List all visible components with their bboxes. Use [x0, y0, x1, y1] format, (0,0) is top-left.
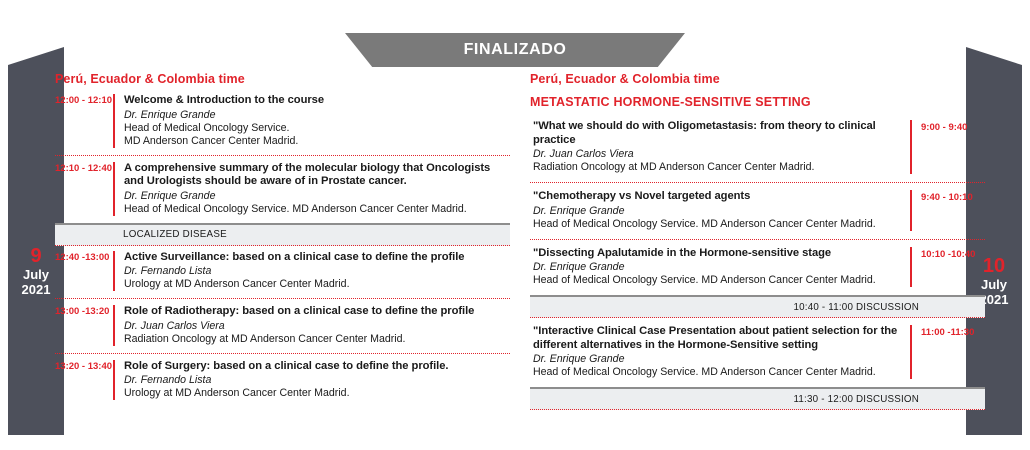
agenda-column-day-10: Perú, Ecuador & Colombia time METASTATIC…	[530, 72, 985, 410]
session-affiliation: Radiation Oncology at MD Anderson Cancer…	[124, 333, 510, 346]
session-speaker: Dr. Fernando Lista	[124, 374, 510, 387]
session-affiliation: Head of Medical Oncology Service.	[124, 122, 510, 135]
discussion-band-label: 11:30 - 12:00 DISCUSSION	[793, 394, 919, 405]
session-affiliation: Head of Medical Oncology Service. MD And…	[533, 274, 902, 287]
session-title: Active Surveillance: based on a clinical…	[124, 251, 510, 265]
discussion-band: 10:40 - 11:00 DISCUSSION	[530, 295, 985, 318]
session-affiliation: Urology at MD Anderson Cancer Center Mad…	[124, 278, 510, 291]
session-body: "Chemotherapy vs Novel targeted agentsDr…	[530, 190, 910, 231]
agenda-session-row[interactable]: "Dissecting Apalutamide in the Hormone-s…	[530, 239, 985, 296]
session-time: 13:00 -13:20	[55, 305, 113, 346]
section-heading-metastatic: METASTATIC HORMONE-SENSITIVE SETTING	[530, 95, 985, 113]
timezone-heading-left: Perú, Ecuador & Colombia time	[55, 72, 510, 89]
session-affiliation: Radiation Oncology at MD Anderson Cancer…	[533, 161, 902, 174]
session-title: A comprehensive summary of the molecular…	[124, 162, 510, 189]
session-body: Active Surveillance: based on a clinical…	[113, 251, 510, 292]
session-time: 12:00 - 12:10	[55, 94, 113, 148]
session-body: Welcome & Introduction to the courseDr. …	[113, 94, 510, 148]
agenda-session-row[interactable]: 12:00 - 12:10Welcome & Introduction to t…	[55, 89, 510, 155]
session-speaker: Dr. Juan Carlos Viera	[533, 148, 902, 161]
session-title: Role of Surgery: based on a clinical cas…	[124, 360, 510, 374]
session-time: 9:00 - 9:40	[910, 120, 985, 174]
session-affiliation: Head of Medical Oncology Service. MD And…	[533, 366, 902, 379]
discussion-band-label: 10:40 - 11:00 DISCUSSION	[793, 302, 919, 313]
agenda-session-row[interactable]: 12:10 - 12:40A comprehensive summary of …	[55, 155, 510, 223]
agenda-session-row[interactable]: "Chemotherapy vs Novel targeted agentsDr…	[530, 182, 985, 239]
day-tab-left-month: July	[23, 267, 49, 282]
session-speaker: Dr. Enrique Grande	[124, 190, 510, 203]
session-title: "What we should do with Oligometastasis:…	[533, 120, 902, 147]
session-body: "What we should do with Oligometastasis:…	[530, 120, 910, 174]
session-time: 12:10 - 12:40	[55, 162, 113, 216]
agenda-rows-right: "What we should do with Oligometastasis:…	[530, 113, 985, 410]
agenda-session-row[interactable]: 13:00 -13:20Role of Radiotherapy: based …	[55, 298, 510, 353]
session-speaker: Dr. Fernando Lista	[124, 265, 510, 278]
session-affiliation: MD Anderson Cancer Center Madrid.	[124, 135, 510, 148]
section-band: LOCALIZED DISEASE	[55, 223, 510, 246]
status-banner-finalizado: FINALIZADO	[345, 33, 685, 67]
section-band-label: LOCALIZED DISEASE	[123, 229, 227, 240]
session-speaker: Dr. Enrique Grande	[533, 205, 902, 218]
agenda-stage: FINALIZADO 9 July 2021 10 July 2021 Perú…	[0, 0, 1030, 450]
session-time: 10:10 -10:40	[910, 247, 985, 288]
session-body: "Dissecting Apalutamide in the Hormone-s…	[530, 247, 910, 288]
status-banner-label: FINALIZADO	[464, 41, 567, 59]
session-body: A comprehensive summary of the molecular…	[113, 162, 510, 216]
session-affiliation: Head of Medical Oncology Service. MD And…	[533, 218, 902, 231]
session-title: "Interactive Clinical Case Presentation …	[533, 325, 902, 352]
session-title: Role of Radiotherapy: based on a clinica…	[124, 305, 510, 319]
session-speaker: Dr. Enrique Grande	[533, 261, 902, 274]
session-body: Role of Surgery: based on a clinical cas…	[113, 360, 510, 401]
agenda-session-row[interactable]: "What we should do with Oligometastasis:…	[530, 113, 985, 182]
timezone-heading-right: Perú, Ecuador & Colombia time	[530, 72, 985, 89]
session-speaker: Dr. Juan Carlos Viera	[124, 320, 510, 333]
agenda-column-day-9: Perú, Ecuador & Colombia time 12:00 - 12…	[55, 72, 510, 407]
session-body: "Interactive Clinical Case Presentation …	[530, 325, 910, 379]
discussion-band: 11:30 - 12:00 DISCUSSION	[530, 387, 985, 410]
session-time: 9:40 - 10:10	[910, 190, 985, 231]
session-time: 11:00 -11:30	[910, 325, 985, 379]
session-body: Role of Radiotherapy: based on a clinica…	[113, 305, 510, 346]
agenda-session-row[interactable]: 13:20 - 13:40Role of Surgery: based on a…	[55, 353, 510, 408]
session-affiliation: Urology at MD Anderson Cancer Center Mad…	[124, 387, 510, 400]
session-title: Welcome & Introduction to the course	[124, 94, 510, 108]
day-tab-left-year: 2021	[22, 282, 51, 297]
session-time: 12:40 -13:00	[55, 251, 113, 292]
agenda-session-row[interactable]: 12:40 -13:00Active Surveillance: based o…	[55, 246, 510, 299]
session-affiliation: Head of Medical Oncology Service. MD And…	[124, 203, 510, 216]
agenda-rows-left: 12:00 - 12:10Welcome & Introduction to t…	[55, 89, 510, 407]
session-speaker: Dr. Enrique Grande	[533, 353, 902, 366]
session-speaker: Dr. Enrique Grande	[124, 109, 510, 122]
session-title: "Dissecting Apalutamide in the Hormone-s…	[533, 247, 902, 261]
session-title: "Chemotherapy vs Novel targeted agents	[533, 190, 902, 204]
session-time: 13:20 - 13:40	[55, 360, 113, 401]
agenda-session-row[interactable]: "Interactive Clinical Case Presentation …	[530, 318, 985, 387]
